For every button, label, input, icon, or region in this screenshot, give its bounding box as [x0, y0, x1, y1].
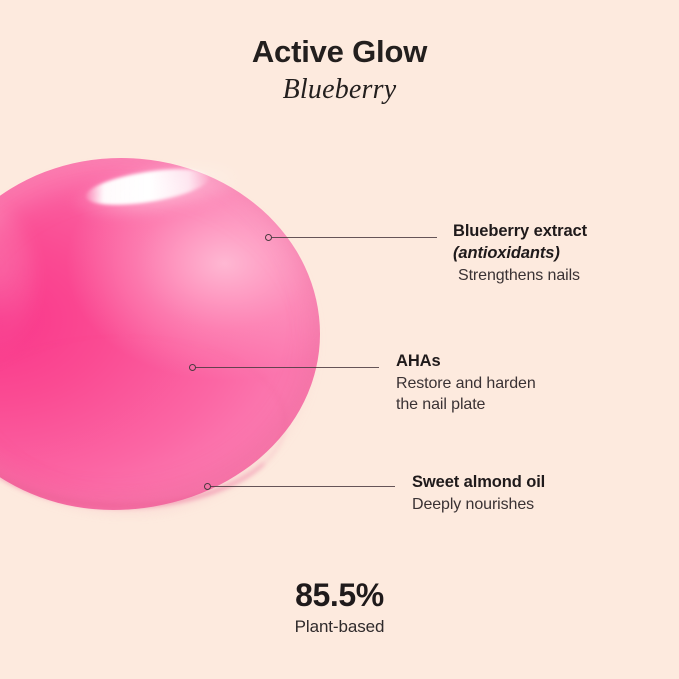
- polish-droplet-illustration: [0, 158, 322, 518]
- callout-subtitle: (antioxidants): [453, 243, 668, 265]
- callout-description: Deeply nourishes: [412, 494, 632, 515]
- leader-rule: [195, 367, 379, 368]
- callout-description: Strengthens nails: [453, 265, 668, 286]
- leader-rule: [271, 237, 437, 238]
- stat-value: 85.5%: [0, 578, 679, 613]
- callout-blueberry-extract: Blueberry extract (antioxidants) Strengt…: [453, 221, 668, 286]
- leader-line-ahas: [189, 363, 379, 373]
- product-infographic: Active Glow Blueberry Blueberry extract …: [0, 0, 679, 679]
- callout-sweet-almond-oil: Sweet almond oil Deeply nourishes: [412, 472, 632, 515]
- stat-label: Plant-based: [0, 616, 679, 638]
- callout-title: AHAs: [396, 351, 616, 373]
- leader-rule: [210, 486, 395, 487]
- leader-line-sweet-almond-oil: [204, 482, 395, 492]
- callout-description-line-2: the nail plate: [396, 394, 616, 415]
- callout-title: Sweet almond oil: [412, 472, 632, 494]
- product-variant-name: Blueberry: [0, 72, 679, 108]
- page-title: Active Glow: [0, 34, 679, 70]
- title-block: Active Glow Blueberry: [0, 34, 679, 108]
- callout-ahas: AHAs Restore and harden the nail plate: [396, 351, 616, 416]
- leader-line-blueberry-extract: [265, 233, 437, 243]
- callout-description-line-1: Restore and harden: [396, 373, 616, 394]
- stat-block: 85.5% Plant-based: [0, 578, 679, 638]
- callout-title: Blueberry extract: [453, 221, 668, 243]
